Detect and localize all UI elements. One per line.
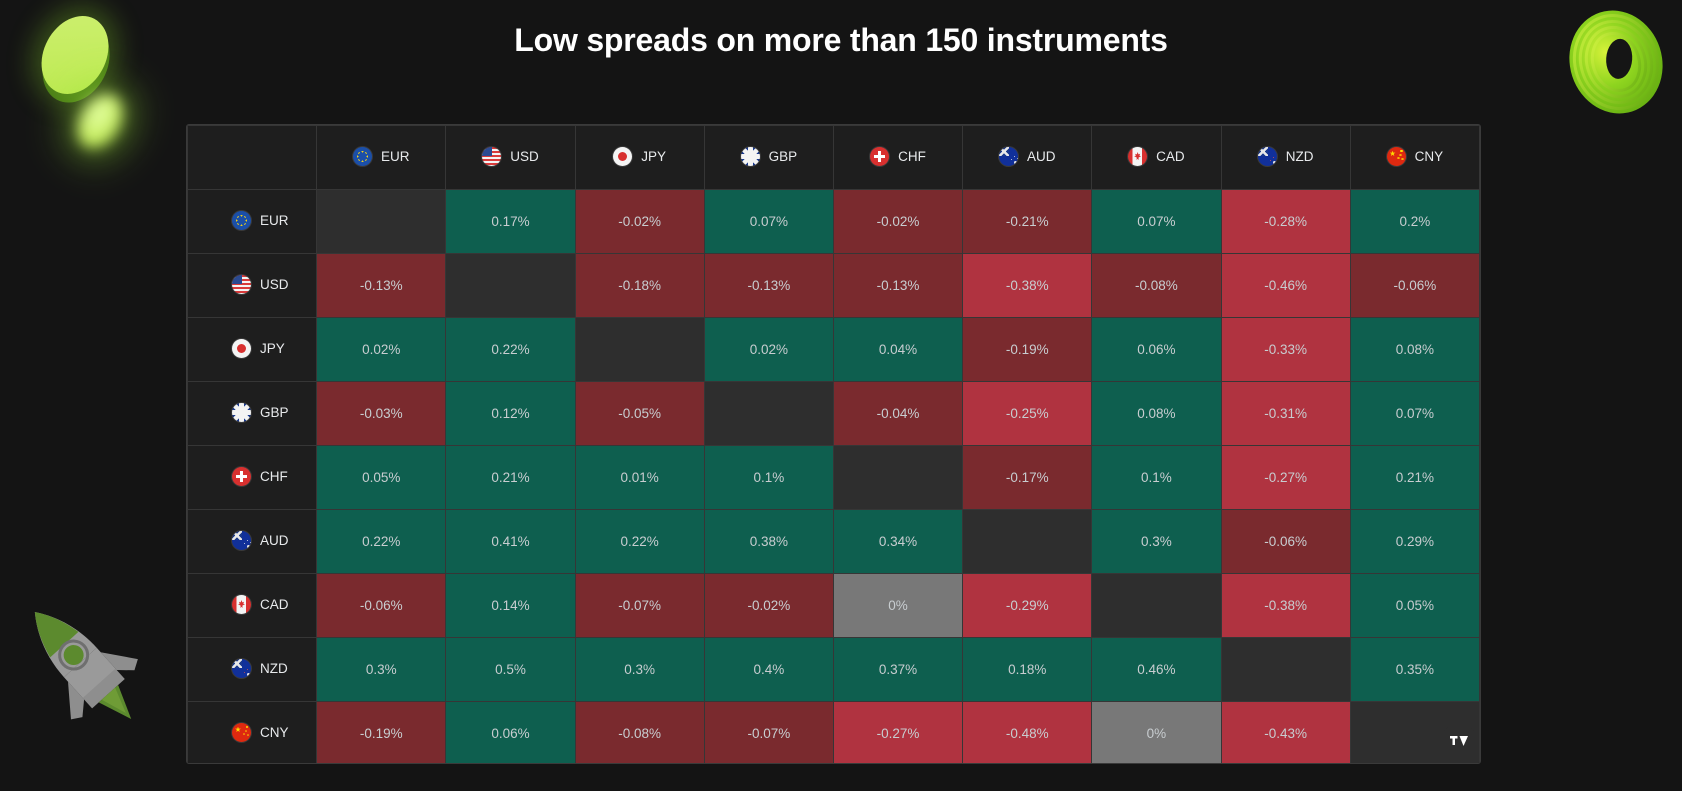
gbp-flag-icon [232, 403, 251, 422]
rate-cell-jpy-cad[interactable]: 0.06% [1092, 318, 1221, 382]
table-row: CHF0.05%0.21%0.01%0.1%-0.17%0.1%-0.27%0.… [188, 446, 1480, 510]
row-header-label: CAD [260, 597, 289, 612]
rate-cell-cny-aud[interactable]: -0.48% [963, 702, 1092, 765]
rate-cell-chf-eur[interactable]: 0.05% [317, 446, 446, 510]
column-header-label: EUR [381, 149, 410, 164]
column-header-nzd[interactable]: NZD [1221, 126, 1350, 190]
column-header-label: USD [510, 149, 539, 164]
rate-cell-jpy-chf[interactable]: 0.04% [833, 318, 962, 382]
rate-cell-jpy-gbp[interactable]: 0.02% [704, 318, 833, 382]
table-row: USD-0.13%-0.18%-0.13%-0.13%-0.38%-0.08%-… [188, 254, 1480, 318]
rate-cell-cny-usd[interactable]: 0.06% [446, 702, 575, 765]
row-header-aud[interactable]: AUD [188, 510, 317, 574]
rate-cell-nzd-gbp[interactable]: 0.4% [704, 638, 833, 702]
row-header-usd[interactable]: USD [188, 254, 317, 318]
rate-cell-nzd-jpy[interactable]: 0.3% [575, 638, 704, 702]
eur-flag-icon [353, 147, 372, 166]
rate-cell-jpy-cny[interactable]: 0.08% [1350, 318, 1479, 382]
rate-cell-nzd-eur[interactable]: 0.3% [317, 638, 446, 702]
table-row: AUD0.22%0.41%0.22%0.38%0.34%0.3%-0.06%0.… [188, 510, 1480, 574]
rate-cell-gbp-cad[interactable]: 0.08% [1092, 382, 1221, 446]
rate-cell-gbp-chf[interactable]: -0.04% [833, 382, 962, 446]
table-row: JPY0.02%0.22%0.02%0.04%-0.19%0.06%-0.33%… [188, 318, 1480, 382]
rate-cell-gbp-eur[interactable]: -0.03% [317, 382, 446, 446]
rate-cell-gbp-cny[interactable]: 0.07% [1350, 382, 1479, 446]
cny-flag-icon [232, 723, 251, 742]
rate-cell-jpy-nzd[interactable]: -0.33% [1221, 318, 1350, 382]
rate-cell-nzd-usd[interactable]: 0.5% [446, 638, 575, 702]
usd-flag-icon [482, 147, 501, 166]
rate-cell-cad-eur[interactable]: -0.06% [317, 574, 446, 638]
table-body: EUR0.17%-0.02%0.07%-0.02%-0.21%0.07%-0.2… [188, 190, 1480, 765]
column-header-label: GBP [769, 149, 798, 164]
rate-cell-eur-usd[interactable]: 0.17% [446, 190, 575, 254]
rate-cell-gbp-aud[interactable]: -0.25% [963, 382, 1092, 446]
forex-cross-rates-table[interactable]: EURUSDJPYGBPCHFAUDCADNZDCNY EUR0.17%-0.0… [186, 124, 1481, 764]
column-header-cny[interactable]: CNY [1350, 126, 1479, 190]
rate-cell-aud-jpy[interactable]: 0.22% [575, 510, 704, 574]
row-header-eur[interactable]: EUR [188, 190, 317, 254]
rate-cell-aud-gbp[interactable]: 0.38% [704, 510, 833, 574]
rate-cell-chf-usd[interactable]: 0.21% [446, 446, 575, 510]
row-header-gbp[interactable]: GBP [188, 382, 317, 446]
row-header-label: USD [260, 277, 289, 292]
green-coin-glow-decoration [68, 86, 132, 156]
rate-cell-nzd-nzd[interactable] [1221, 638, 1350, 702]
rate-cell-cny-eur[interactable]: -0.19% [317, 702, 446, 765]
row-header-jpy[interactable]: JPY [188, 318, 317, 382]
nzd-flag-icon [1258, 147, 1277, 166]
header-row: EURUSDJPYGBPCHFAUDCADNZDCNY [188, 126, 1480, 190]
rate-cell-cad-nzd[interactable]: -0.38% [1221, 574, 1350, 638]
aud-flag-icon [999, 147, 1018, 166]
column-header-label: CHF [898, 149, 926, 164]
rate-cell-nzd-cad[interactable]: 0.46% [1092, 638, 1221, 702]
rate-cell-cny-gbp[interactable]: -0.07% [704, 702, 833, 765]
rate-cell-nzd-aud[interactable]: 0.18% [963, 638, 1092, 702]
rate-cell-jpy-aud[interactable]: -0.19% [963, 318, 1092, 382]
row-header-label: NZD [260, 661, 288, 676]
rate-cell-chf-chf[interactable] [833, 446, 962, 510]
column-header-cad[interactable]: CAD [1092, 126, 1221, 190]
rate-cell-chf-cny[interactable]: 0.21% [1350, 446, 1479, 510]
rate-cell-cad-cny[interactable]: 0.05% [1350, 574, 1479, 638]
rate-cell-cad-usd[interactable]: 0.14% [446, 574, 575, 638]
rate-cell-eur-gbp[interactable]: 0.07% [704, 190, 833, 254]
table-row: NZD0.3%0.5%0.3%0.4%0.37%0.18%0.46%0.35% [188, 638, 1480, 702]
rate-cell-eur-eur[interactable] [317, 190, 446, 254]
rate-cell-usd-usd[interactable] [446, 254, 575, 318]
rate-cell-gbp-usd[interactable]: 0.12% [446, 382, 575, 446]
rate-cell-aud-cny[interactable]: 0.29% [1350, 510, 1479, 574]
row-header-cny[interactable]: CNY [188, 702, 317, 765]
rate-cell-nzd-chf[interactable]: 0.37% [833, 638, 962, 702]
column-header-gbp[interactable]: GBP [704, 126, 833, 190]
column-header-label: NZD [1286, 149, 1314, 164]
column-header-label: AUD [1027, 149, 1056, 164]
jpy-flag-icon [613, 147, 632, 166]
column-header-jpy[interactable]: JPY [575, 126, 704, 190]
rate-cell-usd-chf[interactable]: -0.13% [833, 254, 962, 318]
row-header-label: AUD [260, 533, 289, 548]
column-header-usd[interactable]: USD [446, 126, 575, 190]
nzd-flag-icon [232, 659, 251, 678]
rate-cell-cny-jpy[interactable]: -0.08% [575, 702, 704, 765]
rate-cell-cny-chf[interactable]: -0.27% [833, 702, 962, 765]
rate-cell-gbp-jpy[interactable]: -0.05% [575, 382, 704, 446]
page-title: Low spreads on more than 150 instruments [0, 22, 1682, 59]
rate-cell-eur-cny[interactable]: 0.2% [1350, 190, 1479, 254]
row-header-chf[interactable]: CHF [188, 446, 317, 510]
rate-cell-usd-gbp[interactable]: -0.13% [704, 254, 833, 318]
column-header-eur[interactable]: EUR [317, 126, 446, 190]
row-header-cad[interactable]: CAD [188, 574, 317, 638]
rate-cell-chf-aud[interactable]: -0.17% [963, 446, 1092, 510]
rate-cell-cad-aud[interactable]: -0.29% [963, 574, 1092, 638]
rate-cell-chf-nzd[interactable]: -0.27% [1221, 446, 1350, 510]
rate-cell-eur-aud[interactable]: -0.21% [963, 190, 1092, 254]
rate-cell-aud-usd[interactable]: 0.41% [446, 510, 575, 574]
usd-flag-icon [232, 275, 251, 294]
rate-cell-cny-nzd[interactable]: -0.43% [1221, 702, 1350, 765]
rate-cell-usd-eur[interactable]: -0.13% [317, 254, 446, 318]
column-header-chf[interactable]: CHF [833, 126, 962, 190]
gbp-flag-icon [741, 147, 760, 166]
table-row: CNY-0.19%0.06%-0.08%-0.07%-0.27%-0.48%0%… [188, 702, 1480, 765]
rate-cell-usd-jpy[interactable]: -0.18% [575, 254, 704, 318]
table-row: GBP-0.03%0.12%-0.05%-0.04%-0.25%0.08%-0.… [188, 382, 1480, 446]
tradingview-logo-icon [1450, 736, 1468, 749]
cad-flag-icon [232, 595, 251, 614]
rate-cell-gbp-nzd[interactable]: -0.31% [1221, 382, 1350, 446]
jpy-flag-icon [232, 339, 251, 358]
rate-cell-usd-nzd[interactable]: -0.46% [1221, 254, 1350, 318]
rate-cell-jpy-usd[interactable]: 0.22% [446, 318, 575, 382]
rate-cell-jpy-jpy[interactable] [575, 318, 704, 382]
heatmap-grid: EURUSDJPYGBPCHFAUDCADNZDCNY EUR0.17%-0.0… [187, 125, 1480, 764]
row-header-label: GBP [260, 405, 289, 420]
rate-cell-usd-cny[interactable]: -0.06% [1350, 254, 1479, 318]
table-corner-cell [188, 126, 317, 190]
rate-cell-eur-cad[interactable]: 0.07% [1092, 190, 1221, 254]
cny-flag-icon [1387, 147, 1406, 166]
eur-flag-icon [232, 211, 251, 230]
rate-cell-eur-nzd[interactable]: -0.28% [1221, 190, 1350, 254]
rate-cell-eur-jpy[interactable]: -0.02% [575, 190, 704, 254]
page-root: Low spreads on more than 150 instruments [0, 0, 1682, 791]
row-header-label: CHF [260, 469, 288, 484]
rate-cell-eur-chf[interactable]: -0.02% [833, 190, 962, 254]
rate-cell-aud-chf[interactable]: 0.34% [833, 510, 962, 574]
chf-flag-icon [232, 467, 251, 486]
rate-cell-usd-cad[interactable]: -0.08% [1092, 254, 1221, 318]
rate-cell-chf-gbp[interactable]: 0.1% [704, 446, 833, 510]
rocket-decoration [4, 581, 154, 741]
table-row: CAD-0.06%0.14%-0.07%-0.02%0%-0.29%-0.38%… [188, 574, 1480, 638]
column-header-label: JPY [641, 149, 666, 164]
table-row: EUR0.17%-0.02%0.07%-0.02%-0.21%0.07%-0.2… [188, 190, 1480, 254]
chf-flag-icon [870, 147, 889, 166]
column-header-aud[interactable]: AUD [963, 126, 1092, 190]
cad-flag-icon [1128, 147, 1147, 166]
rate-cell-chf-cad[interactable]: 0.1% [1092, 446, 1221, 510]
rate-cell-jpy-eur[interactable]: 0.02% [317, 318, 446, 382]
row-header-label: CNY [260, 725, 289, 740]
rate-cell-aud-nzd[interactable]: -0.06% [1221, 510, 1350, 574]
rate-cell-cad-chf[interactable]: 0% [833, 574, 962, 638]
tradingview-logo[interactable] [1444, 727, 1474, 757]
rate-cell-aud-cad[interactable]: 0.3% [1092, 510, 1221, 574]
rate-cell-cad-jpy[interactable]: -0.07% [575, 574, 704, 638]
rate-cell-aud-eur[interactable]: 0.22% [317, 510, 446, 574]
rate-cell-aud-aud[interactable] [963, 510, 1092, 574]
row-header-nzd[interactable]: NZD [188, 638, 317, 702]
rate-cell-usd-aud[interactable]: -0.38% [963, 254, 1092, 318]
rate-cell-chf-jpy[interactable]: 0.01% [575, 446, 704, 510]
aud-flag-icon [232, 531, 251, 550]
rate-cell-cad-gbp[interactable]: -0.02% [704, 574, 833, 638]
row-header-label: JPY [260, 341, 285, 356]
rate-cell-cny-cad[interactable]: 0% [1092, 702, 1221, 765]
table-header: EURUSDJPYGBPCHFAUDCADNZDCNY [188, 126, 1480, 190]
rate-cell-cad-cad[interactable] [1092, 574, 1221, 638]
column-header-label: CAD [1156, 149, 1185, 164]
row-header-label: EUR [260, 213, 289, 228]
column-header-label: CNY [1415, 149, 1444, 164]
rate-cell-gbp-gbp[interactable] [704, 382, 833, 446]
rate-cell-nzd-cny[interactable]: 0.35% [1350, 638, 1479, 702]
